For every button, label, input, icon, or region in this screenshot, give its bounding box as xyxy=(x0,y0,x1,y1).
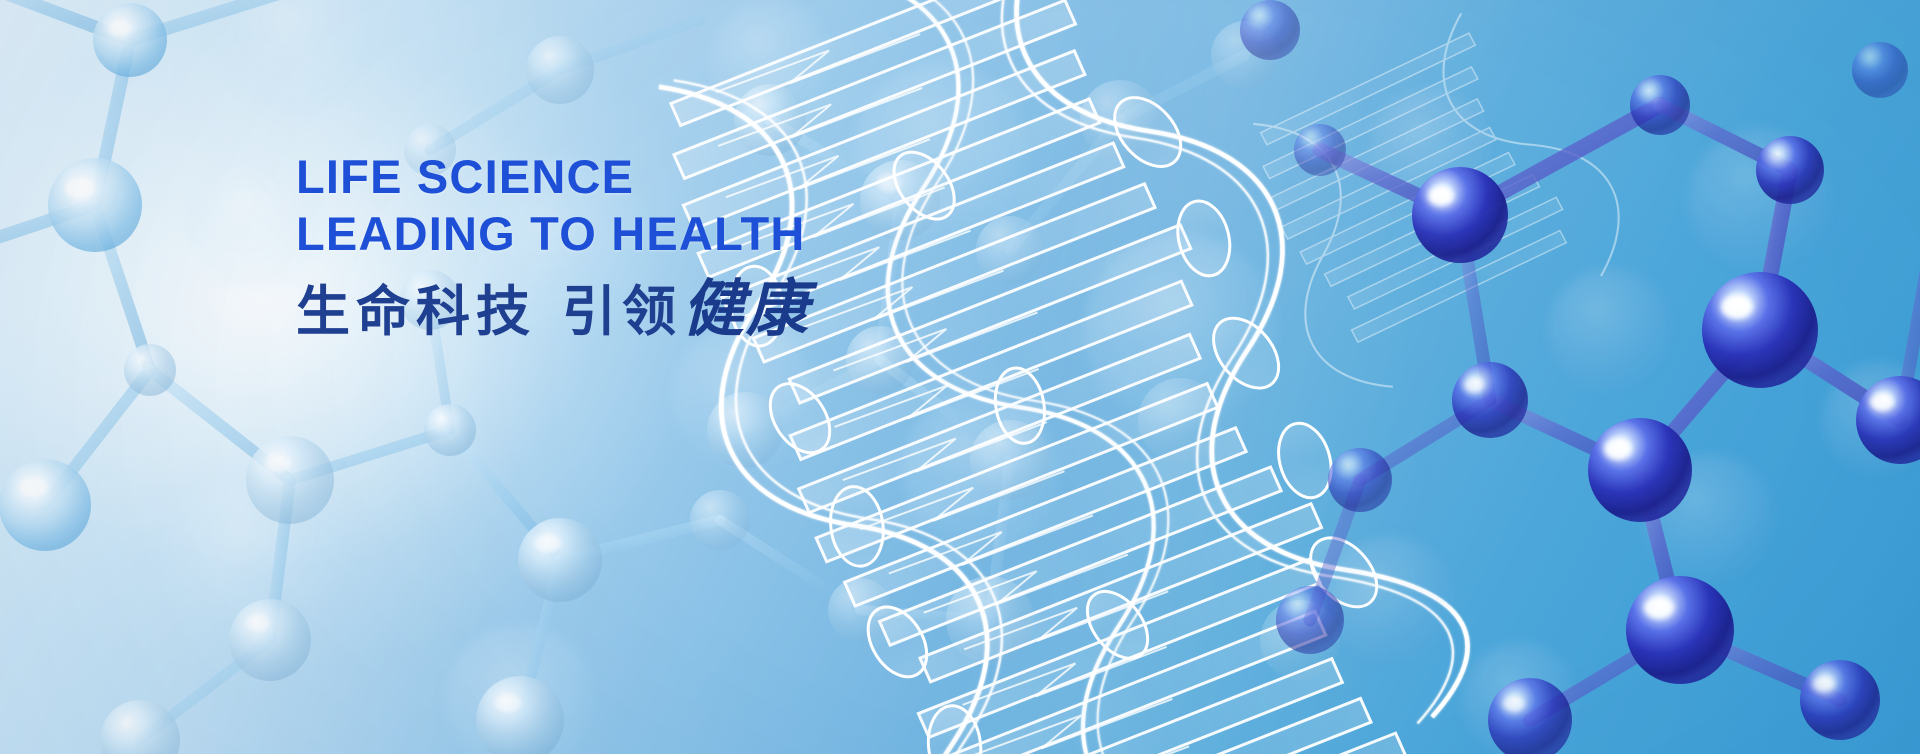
headline-line-2: LEADING TO HEALTH xyxy=(296,205,810,262)
headline-chinese-accent: 健康 xyxy=(682,278,810,340)
headline-line-1: LIFE SCIENCE xyxy=(296,148,810,205)
headline-chinese: 生命科技 引领 健康 xyxy=(296,278,810,340)
headline-chinese-primary: 生命科技 xyxy=(296,285,536,339)
headline-chinese-secondary: 引领 xyxy=(562,285,682,339)
life-science-banner: LIFE SCIENCE LEADING TO HEALTH 生命科技 引领 健… xyxy=(0,0,1920,754)
molecule-network-dark xyxy=(0,0,1920,754)
banner-headline: LIFE SCIENCE LEADING TO HEALTH 生命科技 引领 健… xyxy=(296,148,810,340)
